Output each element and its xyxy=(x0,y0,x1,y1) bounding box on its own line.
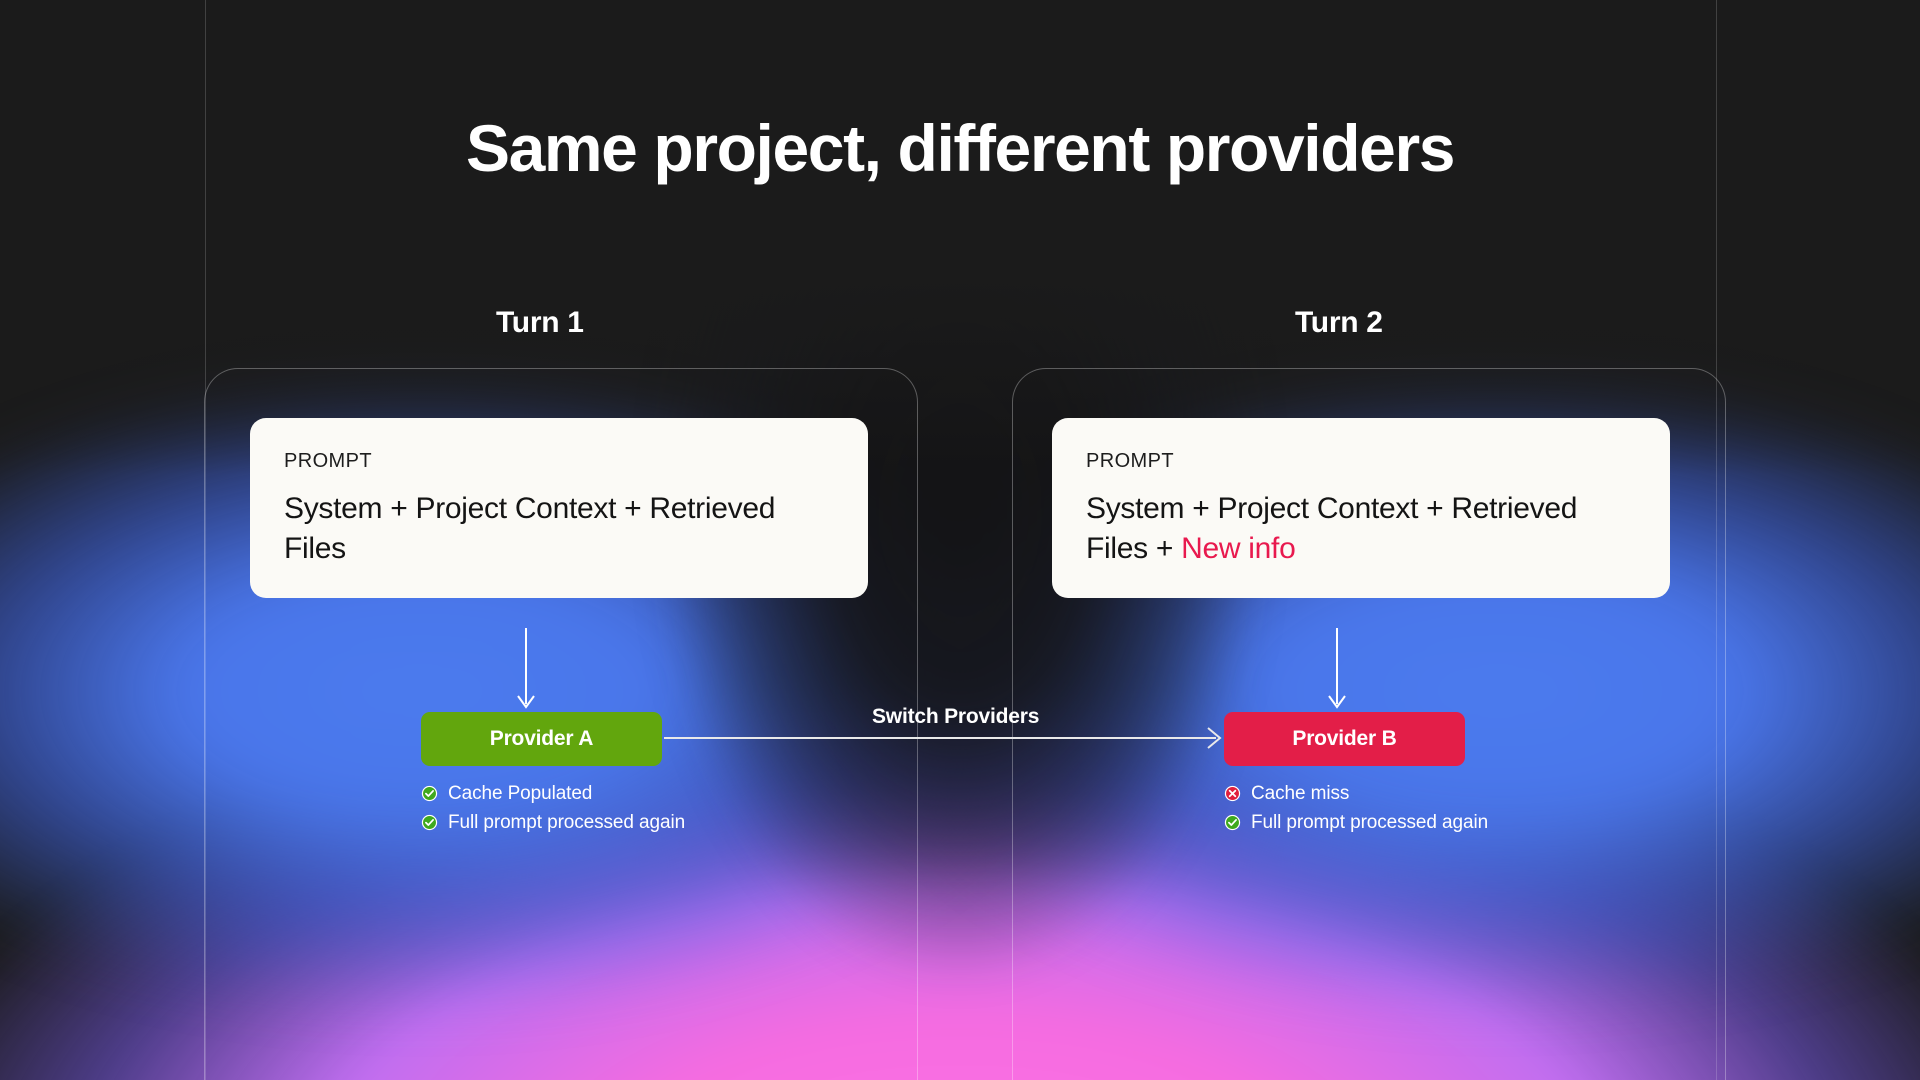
turn-1-prompt-card: PROMPT System + Project Context + Retrie… xyxy=(250,418,868,598)
provider-a-label: Provider A xyxy=(490,727,593,751)
check-circle-icon xyxy=(421,785,438,802)
turn-2-status-list: Cache miss Full prompt processed again xyxy=(1224,784,1488,842)
turn-2-flow-arrow-icon xyxy=(1326,628,1348,717)
turn-2-prompt-card: PROMPT System + Project Context + Retrie… xyxy=(1052,418,1670,598)
turn-1-prompt-body: System + Project Context + Retrieved Fil… xyxy=(284,489,834,568)
provider-b-badge[interactable]: Provider B xyxy=(1224,712,1465,766)
turn-1-label: Turn 1 xyxy=(496,306,584,340)
provider-b-label: Provider B xyxy=(1292,727,1396,751)
page-title: Same project, different providers xyxy=(0,110,1920,186)
turn-2-prompt-highlight: New info xyxy=(1181,532,1295,565)
turn-1-flow-arrow-icon xyxy=(515,628,537,717)
status-row: Full prompt processed again xyxy=(421,813,685,832)
switch-providers-line xyxy=(664,737,1216,739)
turn-1-prompt-text: System + Project Context + Retrieved Fil… xyxy=(284,492,775,565)
status-row: Cache miss xyxy=(1224,784,1488,803)
status-row: Cache Populated xyxy=(421,784,685,803)
turn-2-prompt-text: System + Project Context + Retrieved Fil… xyxy=(1086,492,1577,565)
turn-2-prompt-body: System + Project Context + Retrieved Fil… xyxy=(1086,489,1636,568)
status-row: Full prompt processed again xyxy=(1224,813,1488,832)
x-circle-icon xyxy=(1224,785,1241,802)
background-top-fade xyxy=(0,0,1920,475)
switch-providers-arrow-icon xyxy=(1202,726,1226,755)
provider-a-badge[interactable]: Provider A xyxy=(421,712,662,766)
switch-providers-label: Switch Providers xyxy=(872,705,1039,729)
status-label: Full prompt processed again xyxy=(448,813,685,832)
status-label: Cache miss xyxy=(1251,784,1349,803)
check-circle-icon xyxy=(1224,814,1241,831)
status-label: Cache Populated xyxy=(448,784,592,803)
slide-canvas: Same project, different providers Turn 1… xyxy=(0,0,1920,1080)
turn-2-prompt-kicker: PROMPT xyxy=(1086,450,1636,473)
check-circle-icon xyxy=(421,814,438,831)
turn-1-prompt-kicker: PROMPT xyxy=(284,450,834,473)
background-center-shadow xyxy=(576,194,1344,1080)
status-label: Full prompt processed again xyxy=(1251,813,1488,832)
turn-1-status-list: Cache Populated Full prompt processed ag… xyxy=(421,784,685,842)
turn-2-label: Turn 2 xyxy=(1295,306,1383,340)
